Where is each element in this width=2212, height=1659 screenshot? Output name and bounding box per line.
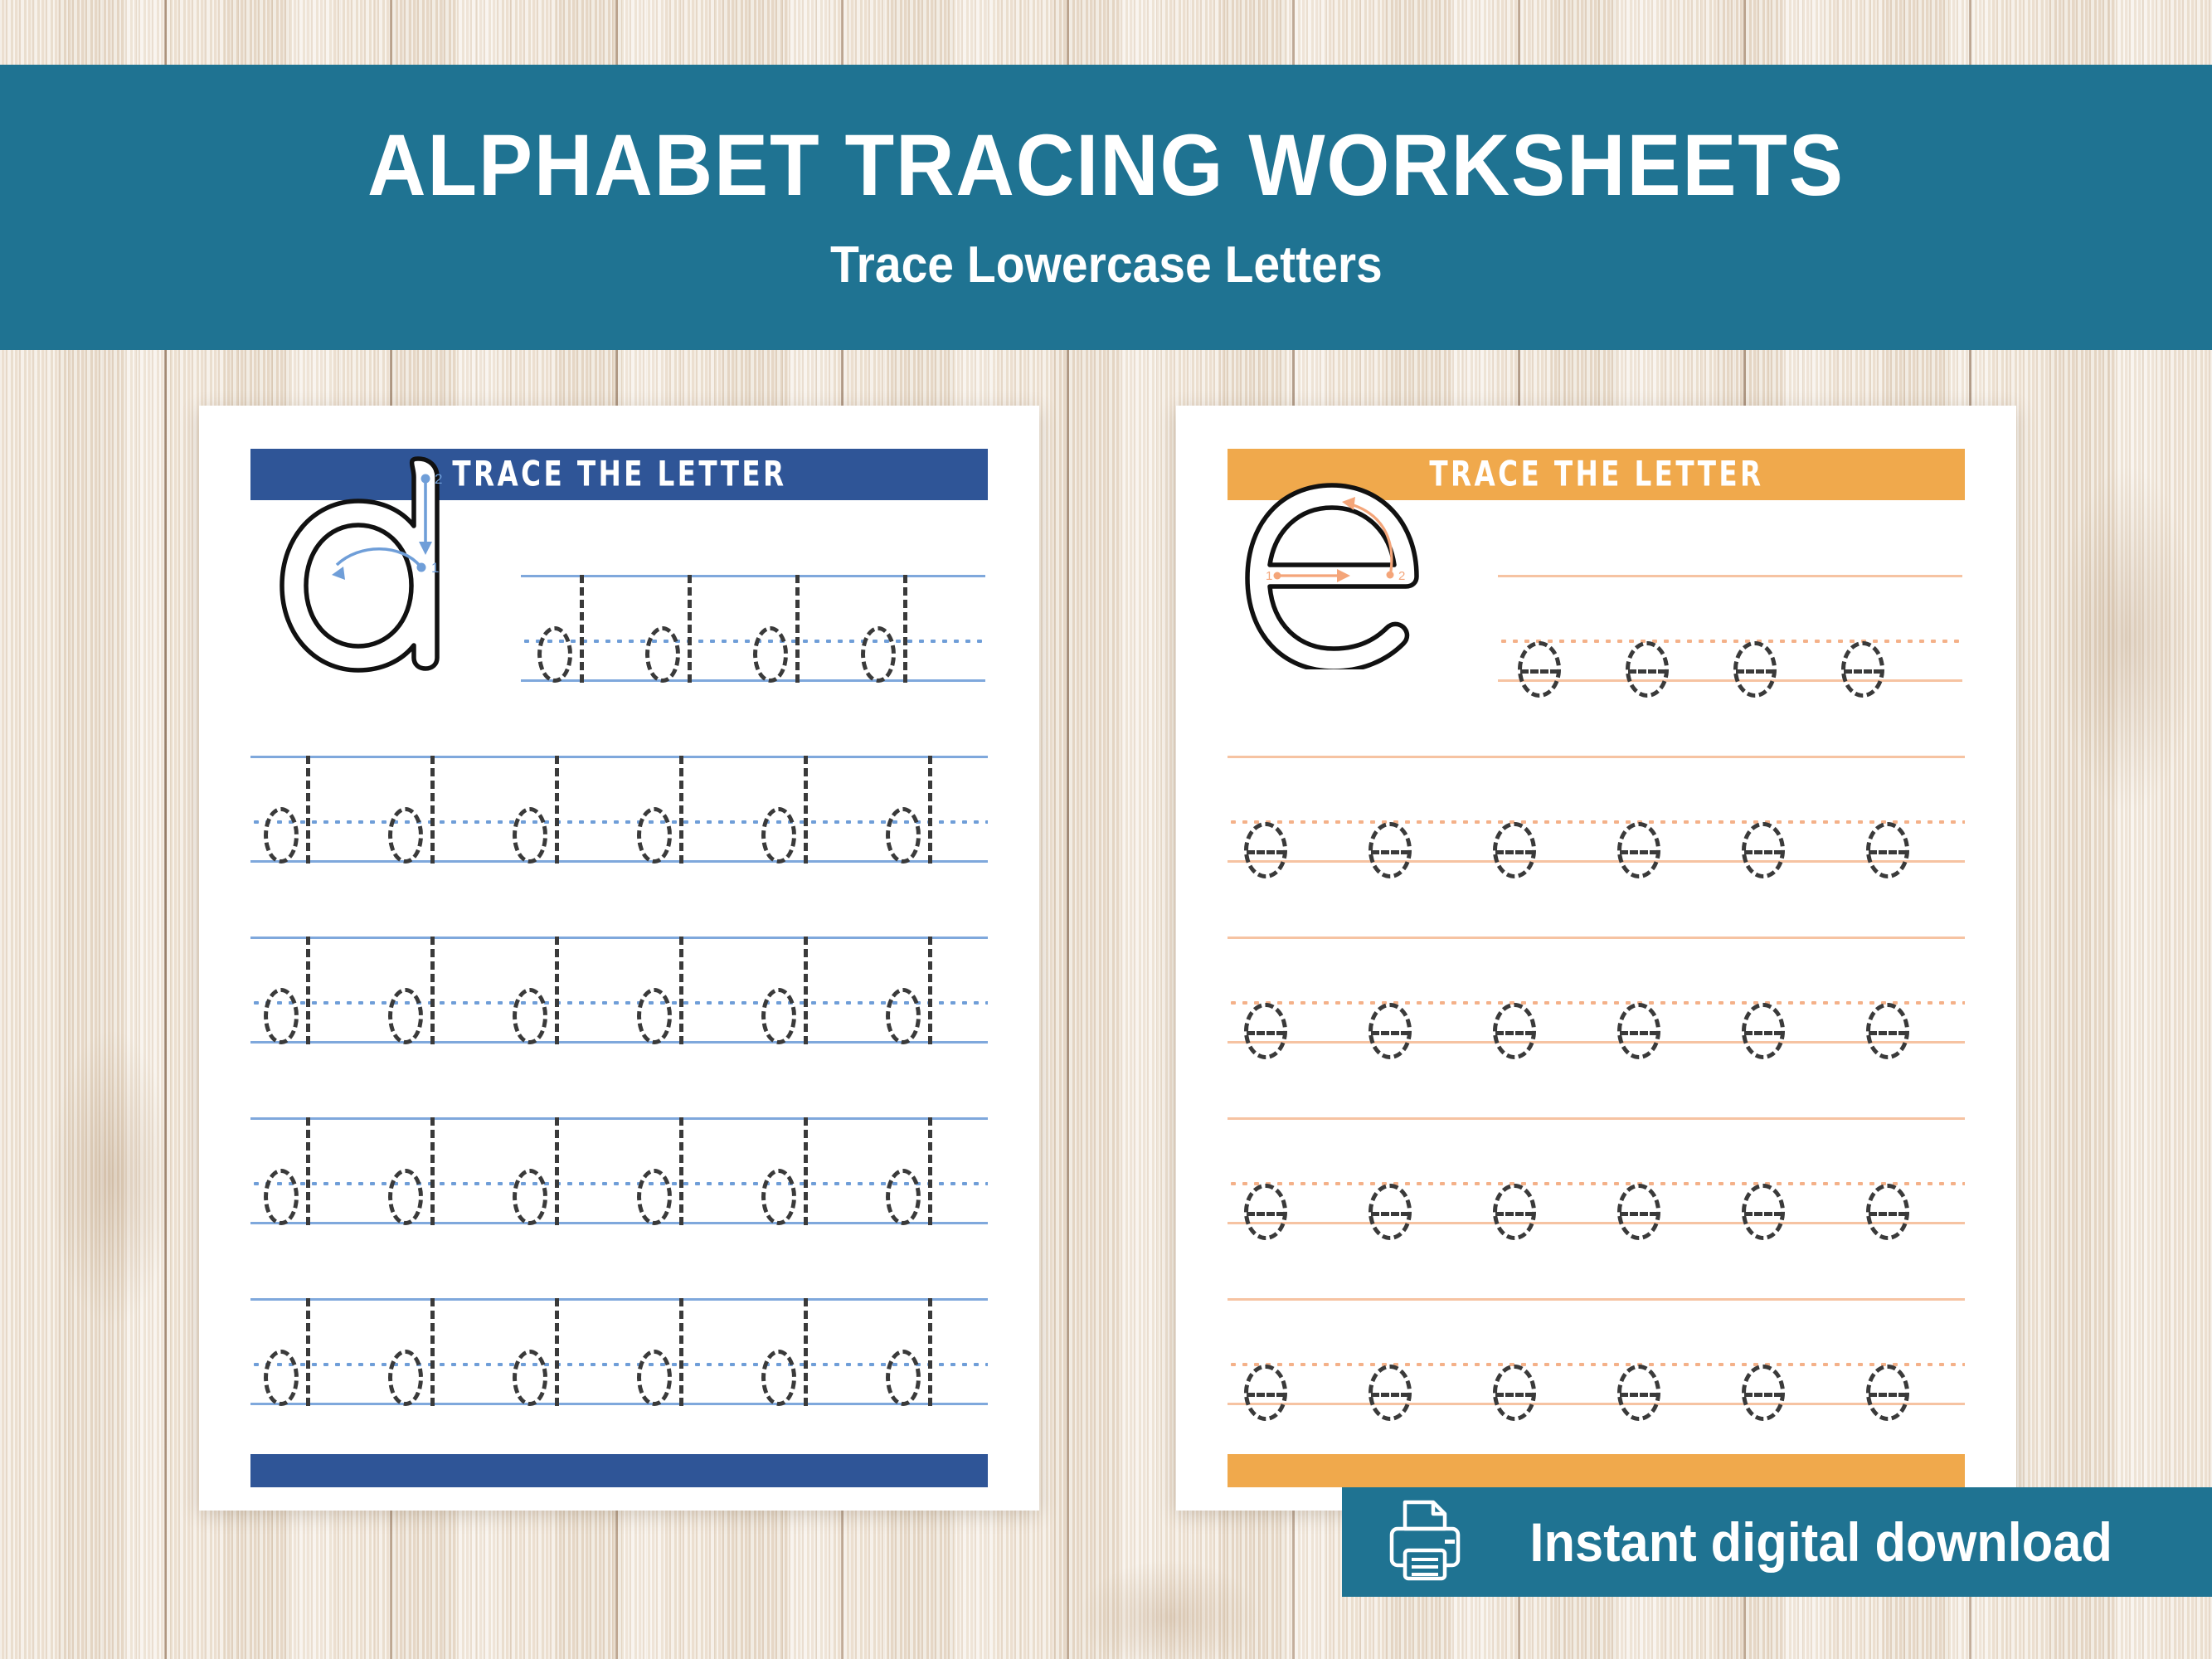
worksheet-footer-bar-e <box>1228 1454 1965 1487</box>
page-title: ALPHABET TRACING WORKSHEETS <box>367 120 1845 212</box>
dashed-letter-d <box>513 1298 561 1406</box>
worksheet-header-label: TRACE THE LETTER <box>1429 455 1763 495</box>
dashed-letter-e <box>1493 1003 1536 1059</box>
dashed-letter-e <box>1866 822 1909 878</box>
dashed-letter-d <box>761 1117 809 1225</box>
dashed-letter-e <box>1493 1184 1536 1240</box>
dashed-letter-d <box>886 1117 934 1225</box>
dashed-letter-e <box>1626 641 1669 698</box>
badge-label: Instant digital download <box>1529 1511 2112 1574</box>
dashed-letter-d <box>264 1117 312 1225</box>
dashed-letter-e <box>1742 822 1785 878</box>
page-banner: ALPHABET TRACING WORKSHEETS Trace Lowerc… <box>0 65 2212 350</box>
trace-row[interactable] <box>1228 1117 1965 1227</box>
demo-letter-e: 1 2 <box>1241 479 1440 669</box>
trace-row[interactable] <box>250 1298 988 1408</box>
dashed-letter-e <box>1369 1365 1412 1421</box>
dashed-letter-d <box>886 937 934 1044</box>
dashed-letter-d <box>886 1298 934 1406</box>
stroke-number-1: 1 <box>431 560 439 576</box>
dashed-letter-d <box>637 756 685 864</box>
dashed-letter-e <box>1841 641 1884 698</box>
dashed-letter-d <box>388 937 436 1044</box>
worksheet-page-d[interactable]: TRACE THE LETTER 2 1 <box>199 406 1039 1511</box>
dashed-letter-e <box>1369 1184 1412 1240</box>
stroke-number-2: 2 <box>1398 569 1405 583</box>
stroke-1-arrow-head <box>332 567 345 580</box>
dashed-letter-d <box>537 575 586 683</box>
dashed-letter-e <box>1742 1184 1785 1240</box>
stroke-1-start-dot <box>417 563 426 572</box>
dashed-letter-d <box>761 1298 809 1406</box>
trace-row[interactable] <box>250 937 988 1046</box>
dashed-letter-d <box>388 1298 436 1406</box>
page-subtitle: Trace Lowercase Letters <box>830 236 1383 294</box>
dashed-letter-e <box>1617 822 1660 878</box>
dashed-letter-d <box>645 575 693 683</box>
dashed-letter-e <box>1742 1365 1785 1421</box>
dashed-letter-e <box>1866 1184 1909 1240</box>
dashed-letter-d <box>637 1117 685 1225</box>
trace-row[interactable] <box>521 575 985 684</box>
trace-row[interactable] <box>1228 937 1965 1046</box>
dashed-letter-e <box>1742 1003 1785 1059</box>
dashed-letter-d <box>264 756 312 864</box>
dashed-letter-d <box>761 937 809 1044</box>
dashed-letter-e <box>1866 1003 1909 1059</box>
dashed-letter-e <box>1617 1365 1660 1421</box>
dashed-letter-e <box>1866 1365 1909 1421</box>
dashed-letter-d <box>513 937 561 1044</box>
trace-row[interactable] <box>1228 756 1965 865</box>
dashed-letter-e <box>1244 1003 1287 1059</box>
dashed-letter-d <box>388 756 436 864</box>
dashed-letter-e <box>1244 822 1287 878</box>
dashed-letter-d <box>761 756 809 864</box>
letter-outline-d <box>282 459 437 670</box>
dashed-letter-e <box>1493 1365 1536 1421</box>
dashed-letter-d <box>753 575 801 683</box>
dashed-letter-d <box>513 756 561 864</box>
dashed-letter-e <box>1617 1003 1660 1059</box>
dashed-letter-e <box>1733 641 1777 698</box>
dashed-letter-d <box>264 937 312 1044</box>
dashed-letter-d <box>264 1298 312 1406</box>
trace-row[interactable] <box>250 1117 988 1227</box>
worksheet-page-e[interactable]: TRACE THE LETTER 1 2 <box>1176 406 2016 1511</box>
dashed-letter-e <box>1244 1184 1287 1240</box>
dashed-letter-e <box>1244 1365 1287 1421</box>
stroke-number-1: 1 <box>1266 569 1272 583</box>
stroke-number-2: 2 <box>435 471 442 487</box>
dashed-letter-e <box>1518 641 1561 698</box>
dashed-letter-d <box>637 937 685 1044</box>
dashed-letter-e <box>1493 822 1536 878</box>
dashed-letter-d <box>886 756 934 864</box>
dashed-letter-d <box>388 1117 436 1225</box>
trace-row[interactable] <box>1498 575 1962 684</box>
worksheet-footer-bar-d <box>250 1454 988 1487</box>
dashed-letter-e <box>1369 822 1412 878</box>
dashed-letter-d <box>861 575 909 683</box>
dashed-letter-e <box>1369 1003 1412 1059</box>
instant-download-badge: Instant digital download <box>1342 1487 2212 1597</box>
stroke-2-start-dot <box>421 474 430 484</box>
dashed-letter-d <box>637 1298 685 1406</box>
printer-icon <box>1380 1496 1470 1589</box>
dashed-letter-d <box>513 1117 561 1225</box>
trace-row[interactable] <box>250 756 988 865</box>
worksheet-header-label: TRACE THE LETTER <box>452 455 786 495</box>
trace-row[interactable] <box>1228 1298 1965 1408</box>
demo-letter-d: 2 1 <box>255 450 458 674</box>
stroke-2-start-dot <box>1387 572 1394 579</box>
dashed-letter-e <box>1617 1184 1660 1240</box>
